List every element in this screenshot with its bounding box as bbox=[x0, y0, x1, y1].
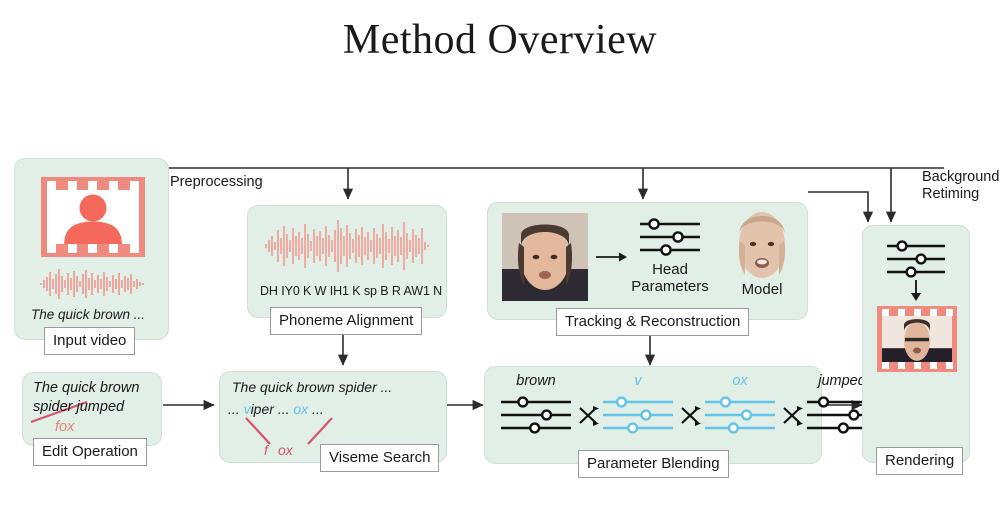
slider-icon bbox=[885, 240, 947, 278]
panel-label-input-video: Input video bbox=[44, 327, 135, 355]
slider-icon bbox=[638, 217, 702, 257]
viseme-line2-prefix: ... bbox=[228, 401, 244, 417]
audio-waveform-icon bbox=[39, 267, 147, 301]
shuffle-icon bbox=[783, 405, 807, 427]
label-background-retiming: Background Retiming bbox=[922, 169, 999, 203]
shuffle-icon bbox=[579, 405, 603, 427]
input-video-caption: The quick brown ... bbox=[31, 307, 145, 322]
panel-label-viseme-search: Viseme Search bbox=[320, 444, 439, 472]
page-title: Method Overview bbox=[0, 16, 1000, 64]
edit-line-2: spider jumped bbox=[33, 399, 124, 415]
blend-group-label: v bbox=[601, 373, 675, 389]
viseme-result-ox: ox bbox=[278, 442, 293, 458]
panel-phoneme-alignment[interactable]: DH IY0 K W IH1 K sp B R AW1 N bbox=[247, 205, 447, 318]
slider-icon[interactable] bbox=[601, 395, 675, 437]
viseme-line2-suffix: ... bbox=[308, 401, 324, 417]
panel-tracking-reconstruction[interactable]: Head Parameters Model bbox=[487, 202, 808, 320]
person-silhouette-icon bbox=[47, 190, 139, 244]
panel-rendering[interactable] bbox=[862, 225, 970, 463]
edit-line-1: The quick brown bbox=[33, 380, 139, 396]
viseme-line2-mid: ... bbox=[274, 401, 293, 417]
down-arrow-icon bbox=[909, 280, 923, 302]
panel-label-tracking-reconstruction: Tracking & Reconstruction bbox=[556, 308, 749, 336]
viseme-line-1: The quick brown spider ... bbox=[232, 379, 392, 395]
panel-edit-operation[interactable]: The quick brown spider jumped fox bbox=[22, 372, 162, 446]
face-photo bbox=[502, 213, 588, 301]
face-photo bbox=[882, 316, 952, 362]
blend-group-label: brown bbox=[499, 373, 573, 389]
shuffle-icon bbox=[681, 405, 705, 427]
panel-label-rendering: Rendering bbox=[876, 447, 963, 475]
phoneme-sequence: DH IY0 K W IH1 K sp B R AW1 N bbox=[260, 284, 442, 298]
slider-icon[interactable] bbox=[499, 395, 573, 437]
edit-replacement-word: fox bbox=[55, 419, 74, 435]
head-parameters-caption: Head Parameters bbox=[622, 261, 718, 296]
face-model bbox=[731, 211, 793, 283]
audio-waveform-icon bbox=[264, 216, 432, 276]
model-caption: Model bbox=[724, 281, 800, 298]
slider-icon[interactable] bbox=[703, 395, 777, 437]
film-strip-icon bbox=[41, 177, 145, 257]
viseme-result-f: f bbox=[264, 442, 268, 458]
label-preprocessing: Preprocessing bbox=[170, 174, 263, 191]
viseme-token-iper: iper bbox=[251, 401, 274, 417]
panel-input-video[interactable]: The quick brown ... bbox=[14, 158, 169, 340]
film-strip-icon bbox=[877, 306, 957, 372]
viseme-token-ox: ox bbox=[293, 401, 308, 417]
panel-label-phoneme-alignment: Phoneme Alignment bbox=[270, 307, 422, 335]
panel-label-edit-operation: Edit Operation bbox=[33, 438, 147, 466]
blend-group-label: ox bbox=[703, 373, 777, 389]
panel-label-parameter-blending: Parameter Blending bbox=[578, 450, 729, 478]
viseme-line-2: ... viper ... ox ... bbox=[228, 401, 324, 417]
viseme-token-v: v bbox=[244, 401, 251, 417]
